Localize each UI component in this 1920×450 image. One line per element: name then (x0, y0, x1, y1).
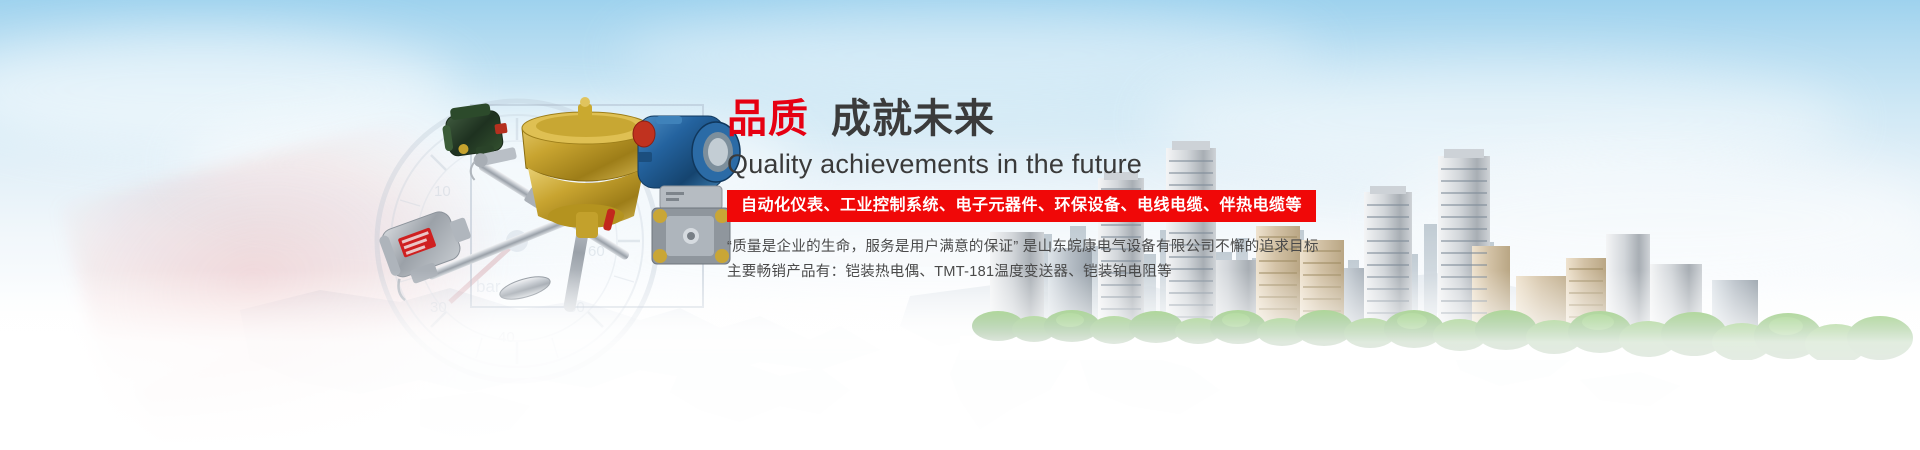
body-line-1: “质量是企业的生命，服务是用户满意的保证” 是山东皖康电气设备有限公司不懈的追求… (727, 235, 1427, 260)
page-title: 品质成就未来 (727, 96, 1427, 142)
promo-banner: 10 20 30 40 50 60 bar (0, 0, 1920, 450)
body-copy: “质量是企业的生命，服务是用户满意的保证” 是山东皖康电气设备有限公司不懈的追求… (727, 235, 1427, 285)
instrument-product-cluster (370, 90, 730, 340)
category-strip: 自动化仪表、工业控制系统、电子元器件、环保设备、电线电缆、伴热电缆等 (727, 190, 1316, 222)
blue-pressure-transmitter (633, 116, 740, 264)
headline-rest: 成就未来 (831, 97, 995, 141)
subheadline: Quality achievements in the future (727, 148, 1427, 180)
headline-accent: 品质 (727, 97, 809, 141)
cloud-wisp-3 (620, 10, 1320, 100)
body-line-2: 主要畅销产品有：铠装热电偶、TMT-181温度变送器、铠装铂电阻等 (727, 260, 1427, 285)
banner-copy-block: 品质成就未来 Quality achievements in the futur… (727, 96, 1427, 285)
flange-disc (498, 272, 553, 304)
